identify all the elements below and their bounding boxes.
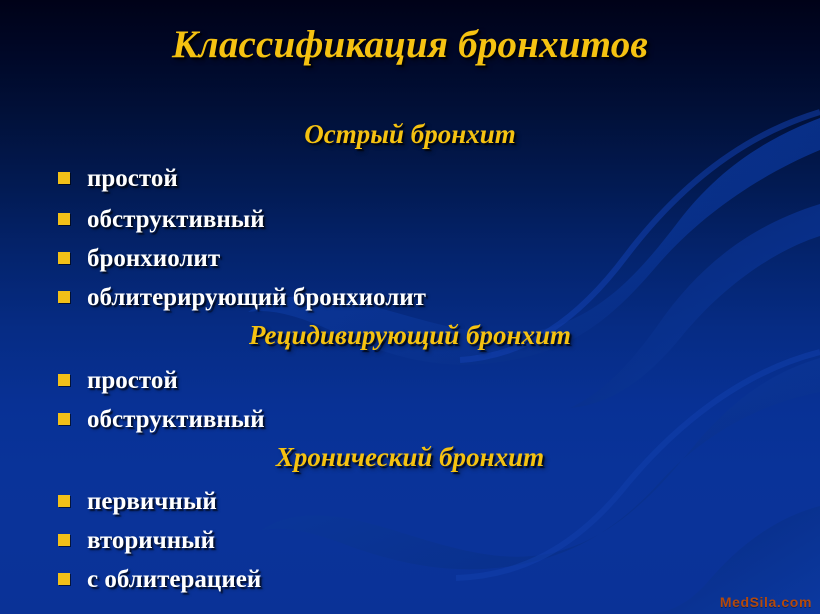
section-heading-recurrent: Рецидивирующий бронхит	[0, 320, 820, 351]
section-heading-acute: Острый бронхит	[0, 119, 820, 150]
list-item-label: простой	[87, 166, 178, 191]
list-item: обструктивный	[58, 405, 265, 433]
section-heading-chronic: Хронический бронхит	[0, 442, 820, 473]
list-item-label: облитерирующий бронхиолит	[87, 285, 426, 310]
watermark: MedSila.com	[720, 594, 812, 610]
presentation-slide: Классификация бронхитов Острый бронхит п…	[0, 0, 820, 614]
bullet-square-icon	[58, 413, 70, 425]
bullet-square-icon	[58, 213, 70, 225]
list-item: облитерирующий бронхиолит	[58, 283, 426, 311]
list-item: обструктивный	[58, 205, 265, 233]
list-item-label: простой	[87, 368, 178, 393]
list-item-label: вторичный	[87, 528, 215, 553]
list-item: простой	[58, 164, 178, 192]
list-item: бронхиолит	[58, 244, 220, 272]
list-item: с облитерацией	[58, 565, 261, 593]
list-item: простой	[58, 366, 178, 394]
bullet-square-icon	[58, 172, 70, 184]
bullet-square-icon	[58, 374, 70, 386]
list-item-label: с облитерацией	[87, 567, 261, 592]
list-item: вторичный	[58, 526, 215, 554]
list-item: первичный	[58, 487, 217, 515]
bullet-square-icon	[58, 534, 70, 546]
bullet-square-icon	[58, 252, 70, 264]
list-item-label: бронхиолит	[87, 246, 220, 271]
list-item-label: обструктивный	[87, 207, 265, 232]
bullet-square-icon	[58, 573, 70, 585]
bullet-square-icon	[58, 495, 70, 507]
bullet-square-icon	[58, 291, 70, 303]
page-title: Классификация бронхитов	[0, 22, 820, 67]
list-item-label: первичный	[87, 489, 217, 514]
list-item-label: обструктивный	[87, 407, 265, 432]
